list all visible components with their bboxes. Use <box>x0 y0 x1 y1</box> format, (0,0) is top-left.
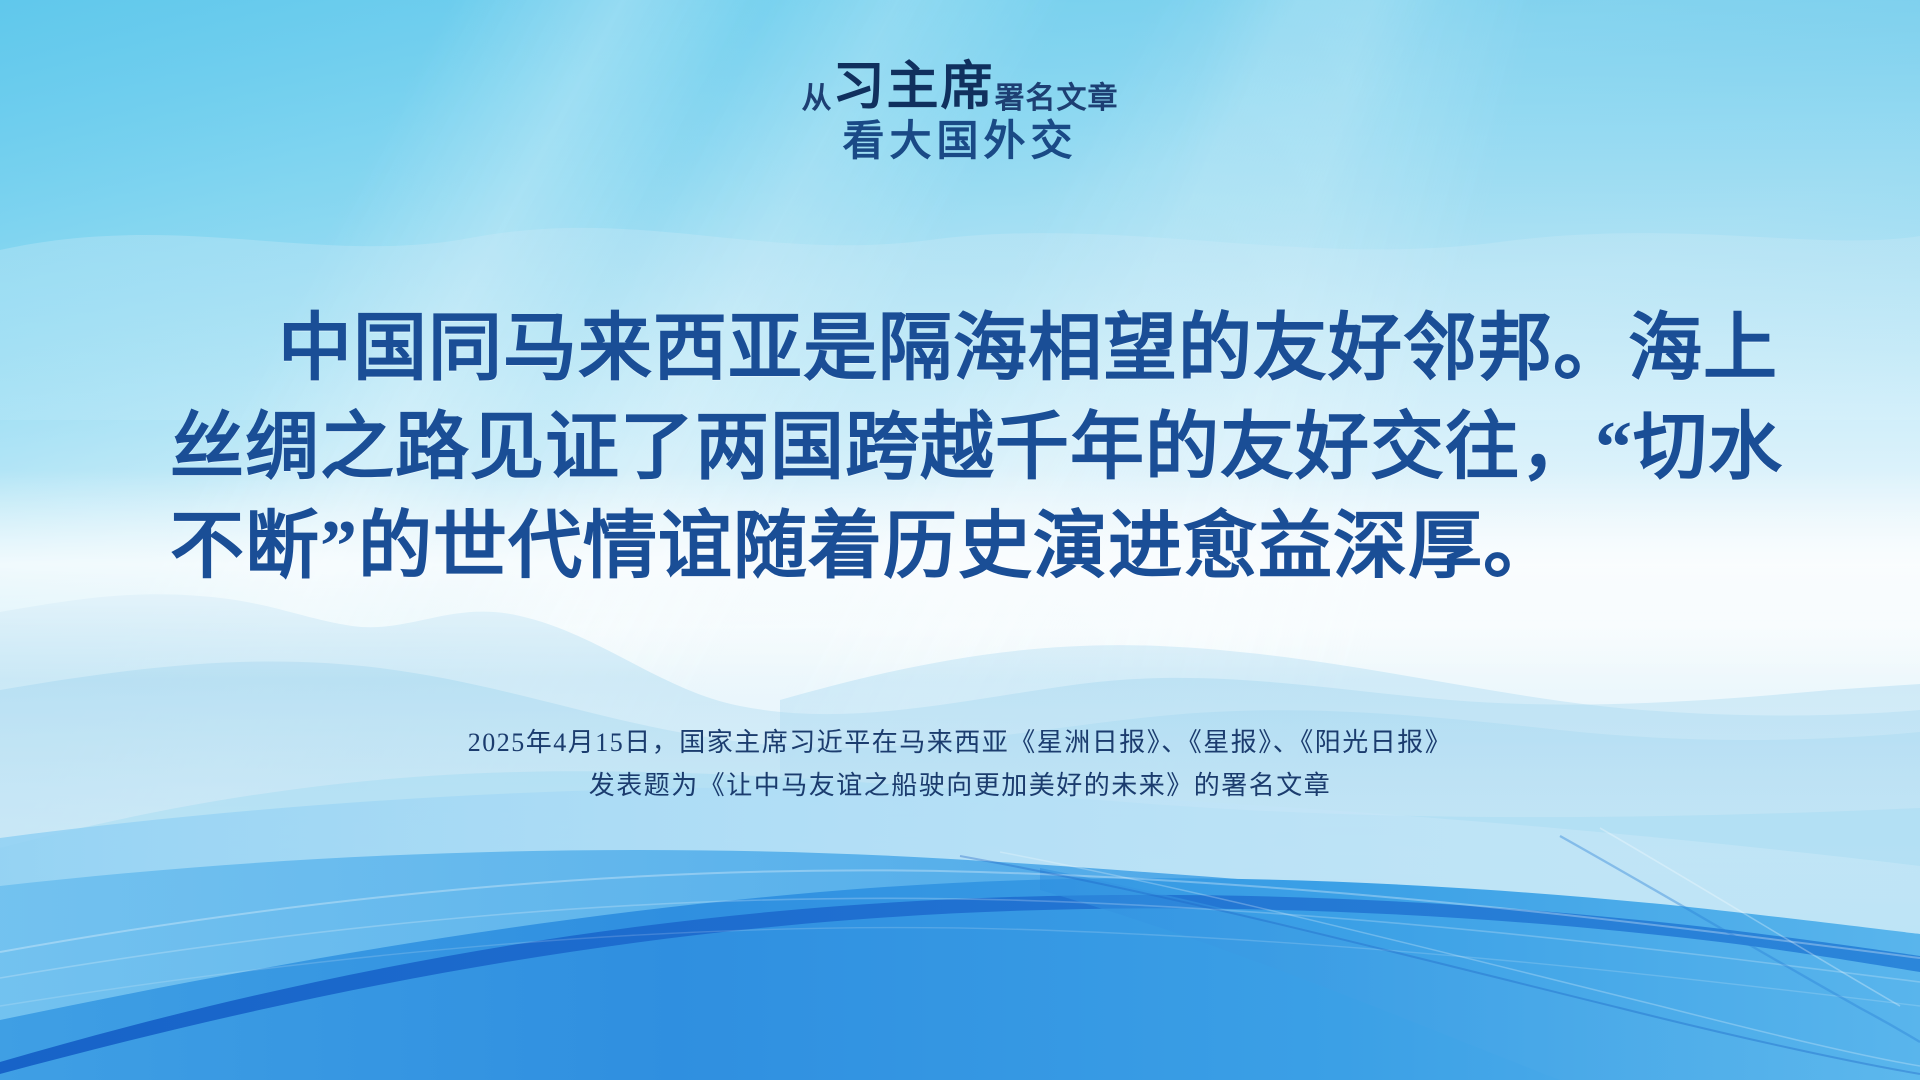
header-line-two: 看大国外交 <box>0 118 1920 166</box>
quote-line-3: 不断”的世代情谊随着历史演进愈益深厚。 <box>170 498 1750 597</box>
header-line-one: 从习主席署名文章 <box>0 62 1920 114</box>
quote-line-2: 丝绸之路见证了两国跨越千年的友好交往，“切水 <box>170 399 1750 498</box>
header-suffix: 署名文章 <box>995 82 1119 115</box>
quote-line-1: 中国同马来西亚是隔海相望的友好邻邦。海上 <box>170 300 1750 399</box>
caption-line-2: 发表题为《让中马友谊之船驶向更加美好的未来》的署名文章 <box>0 765 1920 808</box>
header-prefix: 从 <box>801 82 832 115</box>
header-emphasis: 习主席 <box>832 59 994 116</box>
caption-line-1: 2025年4月15日，国家主席习近平在马来西亚《星洲日报》、《星报》、《阳光日报… <box>0 722 1920 765</box>
quote-block: 中国同马来西亚是隔海相望的友好邻邦。海上 丝绸之路见证了两国跨越千年的友好交往，… <box>0 300 1920 597</box>
caption-block: 2025年4月15日，国家主席习近平在马来西亚《星洲日报》、《星报》、《阳光日报… <box>0 722 1920 808</box>
poster-header: 从习主席署名文章 看大国外交 <box>0 62 1920 166</box>
poster-stage: 从习主席署名文章 看大国外交 中国同马来西亚是隔海相望的友好邻邦。海上 丝绸之路… <box>0 0 1920 1080</box>
